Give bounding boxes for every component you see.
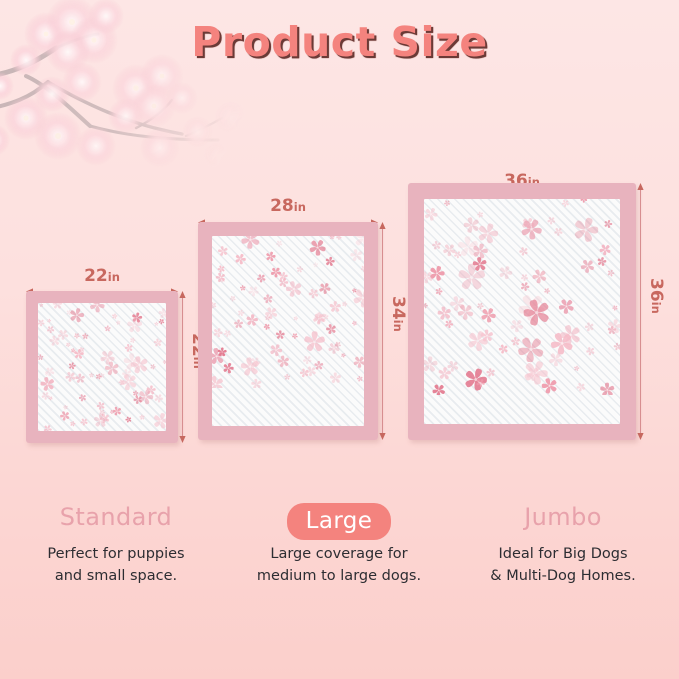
size-description-jumbo: Ideal for Big Dogs & Multi-Dog Homes. <box>452 543 674 587</box>
dimension-arrow-standard-height <box>178 291 187 443</box>
sakura-pattern <box>424 199 620 395</box>
pad-surface <box>212 236 364 426</box>
dimension-label-standard-width: 22in <box>26 266 178 286</box>
size-description-large: Large coverage for medium to large dogs. <box>226 543 452 587</box>
pad-large[interactable] <box>198 222 378 440</box>
pad-standard[interactable] <box>26 291 178 443</box>
pad-surface <box>424 199 620 424</box>
size-name-large-badge[interactable]: Large <box>287 503 392 540</box>
sakura-pattern <box>212 236 364 388</box>
dimension-arrow-large-height <box>378 222 387 440</box>
size-name-large-wrap: Large <box>226 503 452 540</box>
pad-jumbo[interactable] <box>408 183 636 440</box>
size-description-standard: Perfect for puppies and small space. <box>6 543 226 587</box>
size-name-standard: Standard <box>6 503 226 531</box>
dimension-arrow-jumbo-height <box>636 183 645 440</box>
dimension-label-large-width: 28in <box>198 196 378 216</box>
sakura-pattern <box>38 303 166 431</box>
size-name-jumbo: Jumbo <box>452 503 674 531</box>
pad-surface <box>38 303 166 431</box>
page-title: Product Size <box>0 18 679 66</box>
